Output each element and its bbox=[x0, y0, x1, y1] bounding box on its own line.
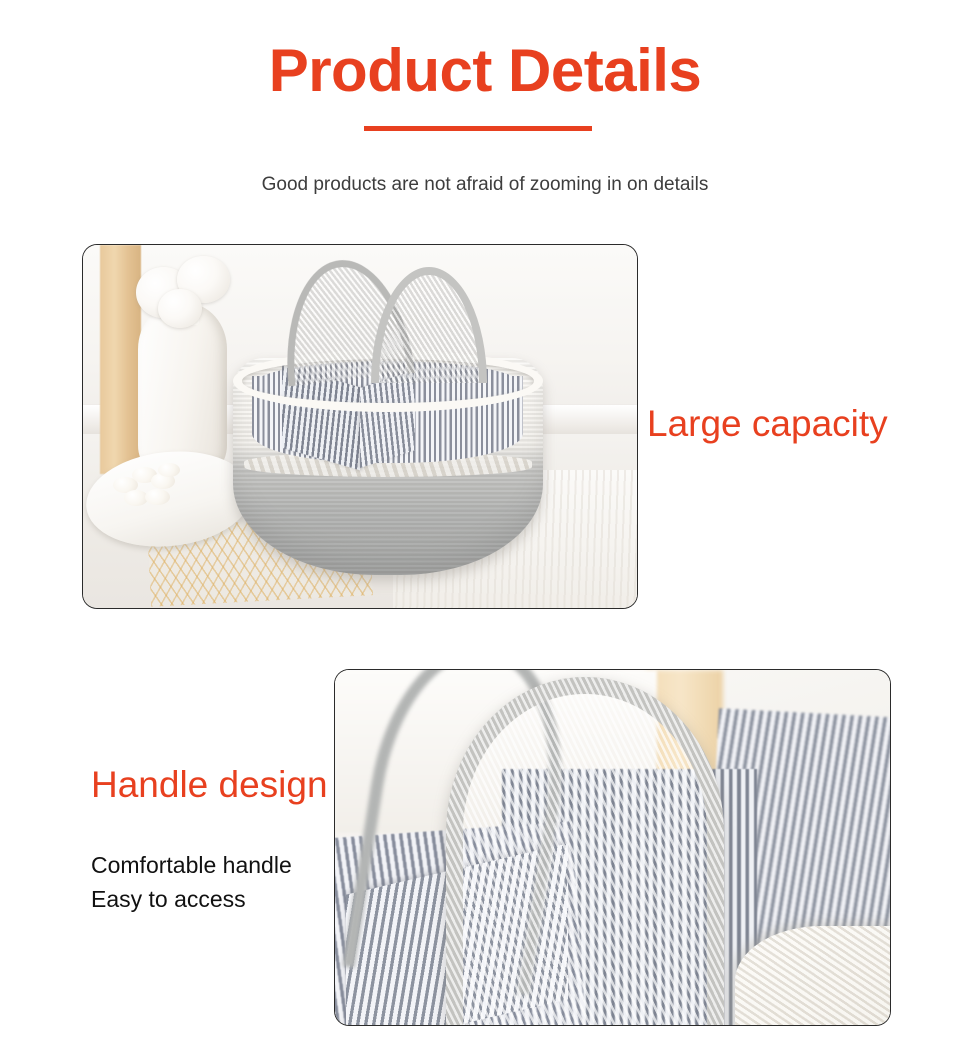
callout-handle-design: Handle design bbox=[91, 763, 328, 807]
bubble-candle bbox=[113, 463, 185, 510]
photo-scene-handle-closeup bbox=[335, 670, 890, 1025]
rope-handle-braid-texture bbox=[446, 677, 724, 1025]
feature-line-comfortable-handle: Comfortable handle bbox=[91, 849, 292, 881]
wooden-post bbox=[100, 245, 142, 474]
page-title: Product Details bbox=[0, 36, 970, 106]
cotton-flower bbox=[158, 289, 202, 329]
title-underline-bar bbox=[364, 126, 592, 131]
page-subtitle: Good products are not afraid of zooming … bbox=[0, 172, 970, 198]
feature-line-easy-to-access: Easy to access bbox=[91, 883, 246, 915]
product-photo-large-capacity bbox=[83, 245, 637, 608]
photo-scene-basket bbox=[83, 245, 637, 608]
callout-large-capacity: Large capacity bbox=[647, 402, 888, 446]
product-photo-handle-design bbox=[335, 670, 890, 1025]
